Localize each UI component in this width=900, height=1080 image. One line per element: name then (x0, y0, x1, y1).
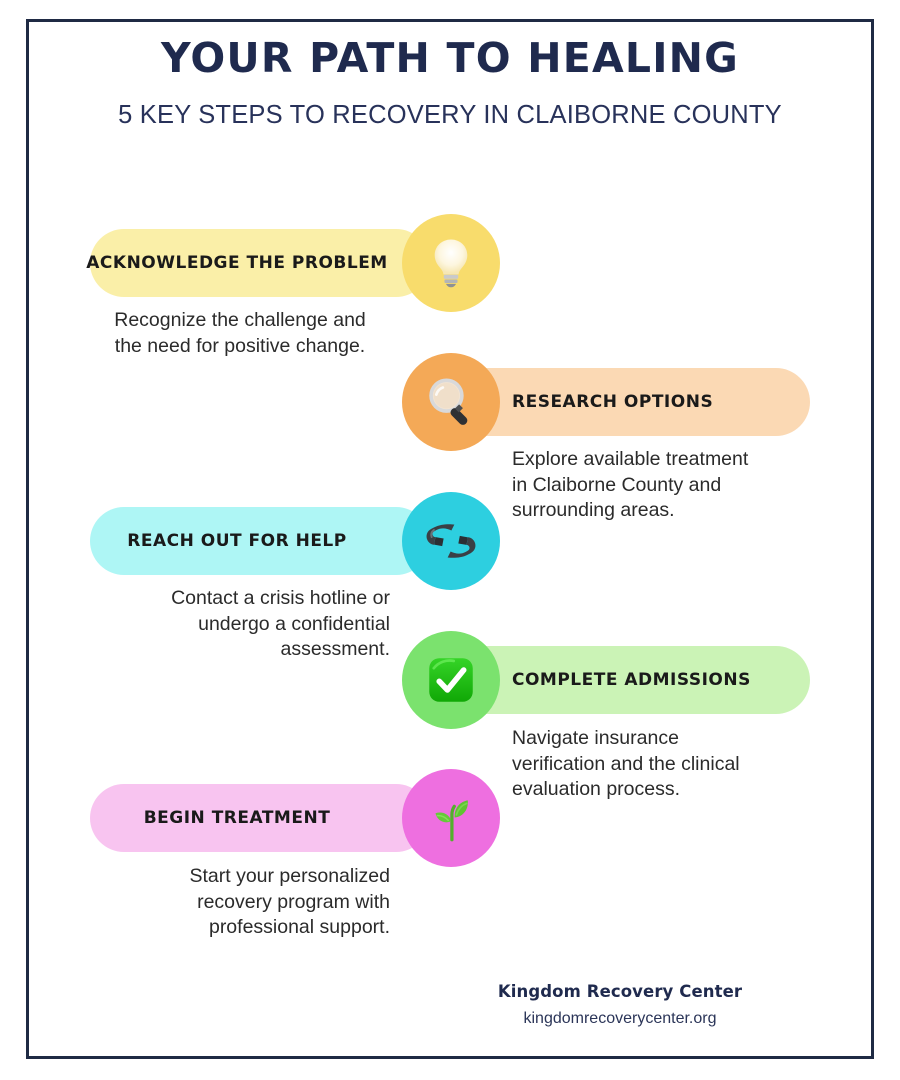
step-1-label: ACKNOWLEDGE THE PROBLEM (86, 253, 387, 273)
light-bulb-icon (422, 234, 480, 292)
step-1-pill[interactable]: ACKNOWLEDGE THE PROBLEM (90, 229, 430, 297)
page-subtitle: 5 KEY STEPS TO RECOVERY IN CLAIBORNE COU… (0, 101, 900, 130)
step-5-label: BEGIN TREATMENT (144, 808, 331, 828)
step-1-icon-circle[interactable] (402, 214, 500, 312)
step-3-icon-circle[interactable] (402, 492, 500, 590)
poster-footer: Kingdom Recovery Center kingdomrecoveryc… (430, 982, 810, 1028)
seedling-icon (422, 789, 480, 847)
step-4-label: COMPLETE ADMISSIONS (512, 670, 751, 690)
footer-organization-name: Kingdom Recovery Center (430, 982, 810, 1001)
telephone-receiver-icon (422, 512, 480, 570)
step-4-icon-circle[interactable] (402, 631, 500, 729)
step-3-description: Contact a crisis hotline or undergo a co… (90, 586, 390, 663)
magnifying-glass-icon (422, 373, 480, 431)
check-mark-button-icon (422, 651, 480, 709)
step-5-icon-circle[interactable] (402, 769, 500, 867)
step-4-description: Navigate insurance verification and the … (512, 726, 812, 803)
page-title: YOUR PATH TO HEALING (0, 36, 900, 81)
step-2-label: RESEARCH OPTIONS (512, 392, 713, 412)
poster-header: YOUR PATH TO HEALING 5 KEY STEPS TO RECO… (0, 36, 900, 130)
step-3-pill[interactable]: REACH OUT FOR HELP (90, 507, 430, 575)
step-5-pill[interactable]: BEGIN TREATMENT (90, 784, 430, 852)
step-3-label: REACH OUT FOR HELP (127, 531, 346, 551)
step-2-description: Explore available treatment in Claiborne… (512, 447, 812, 524)
footer-website-url[interactable]: kingdomrecoverycenter.org (430, 1010, 810, 1028)
step-2-icon-circle[interactable] (402, 353, 500, 451)
infographic-poster: YOUR PATH TO HEALING 5 KEY STEPS TO RECO… (0, 0, 900, 1080)
step-5-description: Start your personalized recovery program… (90, 864, 390, 941)
step-1-description: Recognize the challenge and the need for… (90, 308, 390, 359)
